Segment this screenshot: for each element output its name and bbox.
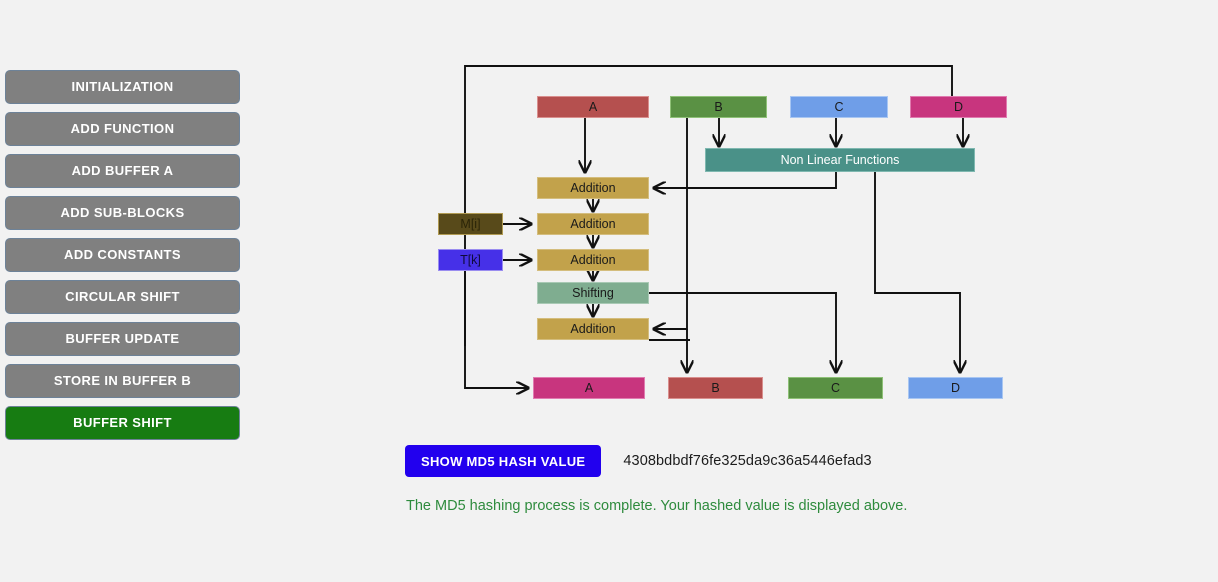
wire-b-to-add4 <box>654 118 687 329</box>
message-block-input: M[i] <box>438 213 503 235</box>
hash-output-row: SHOW MD5 HASH VALUE 4308bdbdf76fe325da9c… <box>405 445 872 477</box>
shifting-block: Shifting <box>537 282 649 304</box>
register-a-top: A <box>537 96 649 118</box>
register-d-top: D <box>910 96 1007 118</box>
wire-nlf-to-add1 <box>654 172 836 188</box>
show-md5-hash-value-button[interactable]: SHOW MD5 HASH VALUE <box>405 445 601 477</box>
wire-left-to-bottom-a <box>465 262 528 388</box>
addition-block-4-label: Addition <box>570 322 615 336</box>
wire-shifting-to-bottom-c <box>649 293 836 372</box>
register-c-top: C <box>790 96 888 118</box>
register-a-bottom: A <box>533 377 645 399</box>
addition-block-1-label: Addition <box>570 181 615 195</box>
md5-hash-value: 4308bdbdf76fe325da9c36a5446efad3 <box>623 453 871 469</box>
sidebar-step-add-sub-blocks[interactable]: ADD SUB-BLOCKS <box>5 196 240 230</box>
register-a-top-label: A <box>589 100 597 114</box>
sidebar-step-initialization[interactable]: INITIALIZATION <box>5 70 240 104</box>
non-linear-functions-label: Non Linear Functions <box>781 153 900 167</box>
addition-block-2: Addition <box>537 213 649 235</box>
addition-block-3-label: Addition <box>570 253 615 267</box>
md5-round-diagram: A B C D Non Linear Functions Addition Ad… <box>400 40 1040 420</box>
sidebar-step-buffer-shift[interactable]: BUFFER SHIFT <box>5 406 240 440</box>
non-linear-functions-block: Non Linear Functions <box>705 148 975 172</box>
addition-block-3: Addition <box>537 249 649 271</box>
sidebar-step-add-buffer-a[interactable]: ADD BUFFER A <box>5 154 240 188</box>
register-a-bottom-label: A <box>585 381 593 395</box>
addition-block-4: Addition <box>537 318 649 340</box>
constant-input: T[k] <box>438 249 503 271</box>
register-c-bottom-label: C <box>831 381 840 395</box>
register-d-bottom: D <box>908 377 1003 399</box>
sidebar-step-store-in-buffer-b[interactable]: STORE IN BUFFER B <box>5 364 240 398</box>
register-b-bottom-label: B <box>711 381 719 395</box>
register-b-bottom: B <box>668 377 763 399</box>
wire-c-to-bottom-d <box>875 172 960 372</box>
constant-input-label: T[k] <box>460 253 481 267</box>
sidebar-step-circular-shift[interactable]: CIRCULAR SHIFT <box>5 280 240 314</box>
md5-visualizer-app: INITIALIZATION ADD FUNCTION ADD BUFFER A… <box>0 0 1218 582</box>
sidebar-step-buffer-update[interactable]: BUFFER UPDATE <box>5 322 240 356</box>
step-sidebar: INITIALIZATION ADD FUNCTION ADD BUFFER A… <box>5 70 240 448</box>
register-c-top-label: C <box>834 100 843 114</box>
addition-block-1: Addition <box>537 177 649 199</box>
message-block-input-label: M[i] <box>460 217 480 231</box>
shifting-block-label: Shifting <box>572 286 614 300</box>
register-d-bottom-label: D <box>951 381 960 395</box>
status-message: The MD5 hashing process is complete. You… <box>406 498 907 514</box>
register-b-top-label: B <box>714 100 722 114</box>
register-d-top-label: D <box>954 100 963 114</box>
sidebar-step-add-function[interactable]: ADD FUNCTION <box>5 112 240 146</box>
addition-block-2-label: Addition <box>570 217 615 231</box>
register-c-bottom: C <box>788 377 883 399</box>
sidebar-step-add-constants[interactable]: ADD CONSTANTS <box>5 238 240 272</box>
register-b-top: B <box>670 96 767 118</box>
